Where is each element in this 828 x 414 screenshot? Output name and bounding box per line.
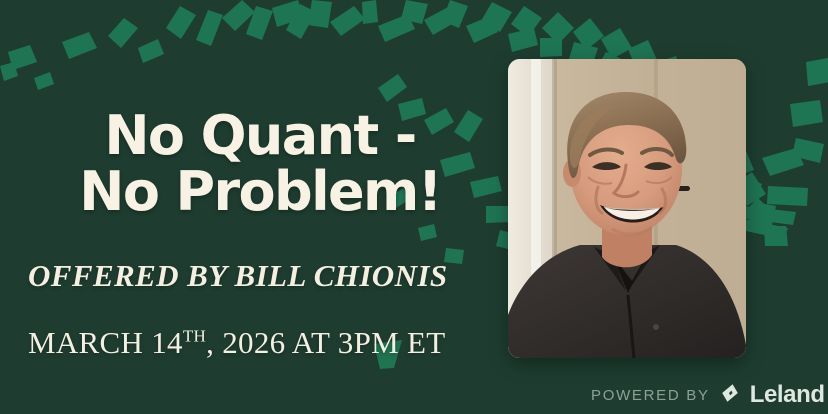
powered-by-leland[interactable]: POWERED BY Leland xyxy=(591,381,825,409)
powered-by-label: POWERED BY xyxy=(591,387,710,404)
page-title: No Quant - No Problem! xyxy=(0,108,520,219)
leland-wordmark: Leland xyxy=(750,381,825,409)
event-month-day: MARCH 14 xyxy=(28,325,183,360)
event-ordinal-suffix: TH xyxy=(183,327,206,346)
event-datetime: MARCH 14TH, 2026 AT 3PM ET xyxy=(28,325,446,361)
leland-diamond-icon xyxy=(719,382,741,409)
text-column: No Quant - No Problem! OFFERED BY BILL C… xyxy=(0,0,520,414)
presenter-credit: OFFERED BY BILL CHIONIS xyxy=(28,258,447,294)
presenter-photo xyxy=(508,59,746,358)
event-year-time: , 2026 AT 3PM ET xyxy=(206,325,445,360)
event-promo-banner: No Quant - No Problem! OFFERED BY BILL C… xyxy=(0,0,828,414)
